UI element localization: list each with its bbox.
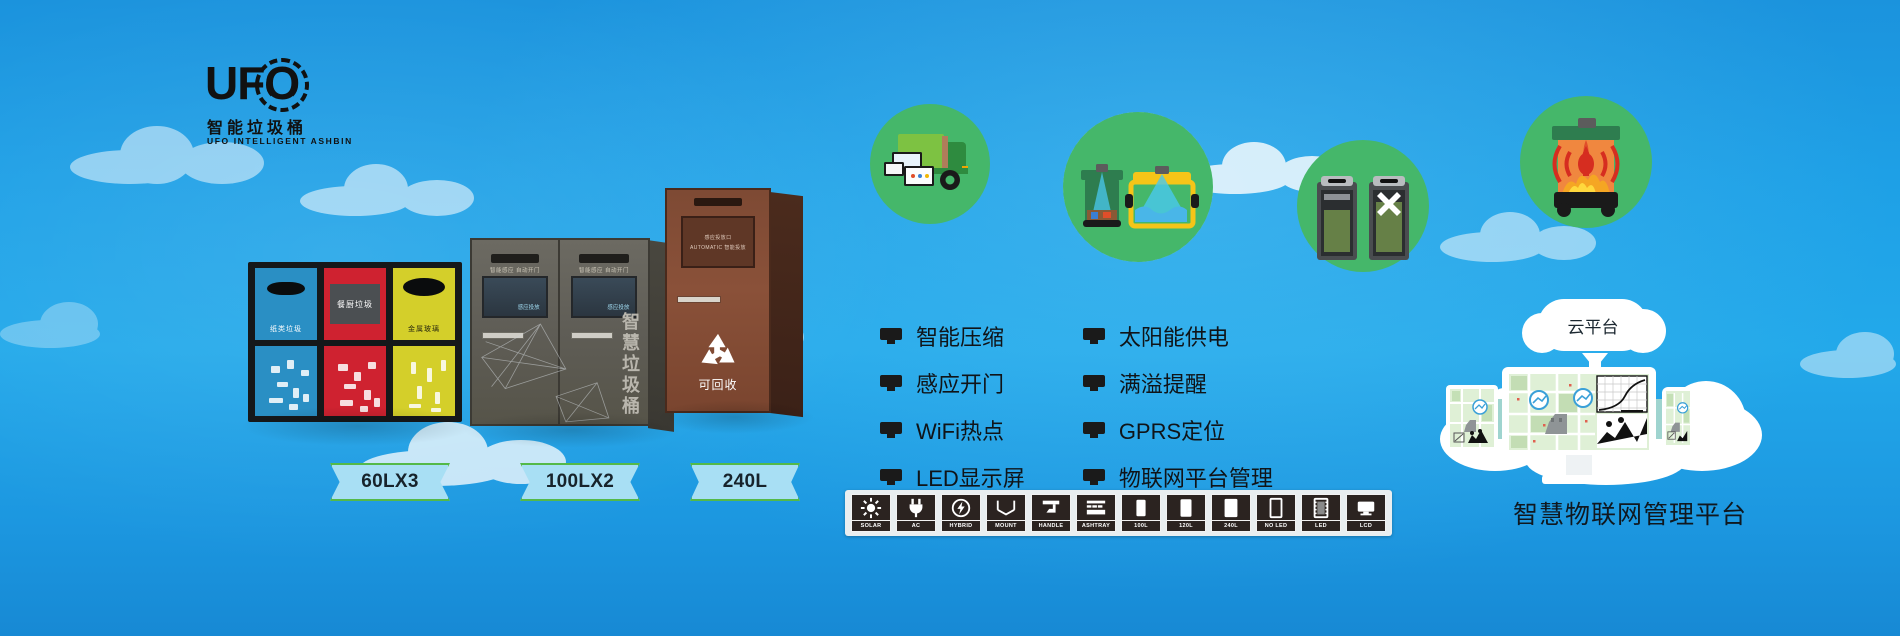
feature-item: 满溢提醒 (1083, 367, 1273, 399)
banner-canvas: UFO 智能垃圾桶 UFO INTELLIGENT ASHBIN 纸类垃圾 (0, 0, 1900, 636)
grey-double-smart-bin: 智能感应 自动开门 感应投放 智能感应 自动开门 感应投放 智慧垃圾桶 (470, 238, 650, 426)
feature-item: 智能压缩 (880, 320, 1025, 352)
platform-title: 智慧物联网管理平台 (1430, 495, 1830, 531)
bin-side-panel (769, 192, 803, 417)
display-line-2: AUTOMATIC 智能投放 (690, 244, 746, 251)
capacity-tag-60lx3: 60LX3 (330, 463, 450, 501)
feature-item: GPRS定位 (1083, 414, 1273, 446)
led-bar (694, 198, 743, 206)
feature-label: 感应开门 (916, 367, 1004, 399)
spec-label: LCD (1346, 521, 1386, 532)
fire-alarm-circle (1520, 96, 1652, 228)
monitor-icon (1083, 469, 1105, 485)
litter-graphic (332, 354, 378, 408)
feature-label: 满溢提醒 (1119, 367, 1207, 399)
lcd-icon (1346, 494, 1386, 521)
mount-icon (986, 494, 1026, 521)
spec-icon-strip: SOLAR AC HYBRID MOUNT (845, 490, 1392, 536)
compaction-circle (1297, 140, 1429, 272)
spec-handle: HANDLE (1031, 494, 1071, 532)
capacity-tag-100lx2: 100LX2 (520, 463, 640, 501)
fleet-monitoring-circle (870, 104, 990, 224)
monitor-icon (880, 328, 902, 344)
litter-graphic (401, 354, 447, 408)
feature-item: LED显示屏 (880, 461, 1025, 493)
spec-label: HANDLE (1031, 521, 1071, 532)
spec-label: MOUNT (986, 521, 1026, 532)
feature-item: WiFi热点 (880, 414, 1025, 446)
feature-column-right: 太阳能供电 满溢提醒 GPRS定位 物联网平台管理 (1083, 320, 1273, 493)
monitor-icon (880, 422, 902, 438)
feature-list: 智能压缩 感应开门 WiFi热点 LED显示屏 太阳能供电 满溢提醒 (880, 320, 1273, 493)
cloud-decoration (0, 300, 160, 350)
bin-shadow (462, 412, 682, 448)
bin-label: 可回收 (667, 376, 769, 393)
drop-slot (267, 282, 305, 295)
fill-level-sensor-circle (1063, 112, 1213, 262)
brand-logo: UFO 智能垃圾桶 UFO INTELLIGENT ASHBIN (205, 58, 325, 156)
spec-led: LED (1301, 494, 1341, 532)
section-top-panel: 纸类垃圾 (255, 268, 317, 340)
section-label: 金属玻璃 (393, 324, 455, 334)
section-top-panel: 金属玻璃 (393, 268, 455, 340)
bin-section-kitchen: 餐厨垃圾 (324, 268, 386, 416)
feature-label: GPRS定位 (1119, 414, 1225, 446)
map-dashboard-graphic (1666, 391, 1690, 445)
smartphone-device (1662, 387, 1694, 449)
spec-label: 240L (1211, 521, 1251, 532)
ashtray-icon (1076, 494, 1116, 521)
phone-screen (1666, 391, 1690, 445)
handle-icon (1031, 494, 1071, 521)
geometric-pattern (472, 240, 648, 424)
three-section-sorting-bin: 纸类垃圾 餐厨垃圾 (248, 262, 462, 422)
feature-item: 物联网平台管理 (1083, 461, 1273, 493)
brown-recycle-bin: 感应投放口 AUTOMATIC 智能投放 可回收 (665, 188, 771, 413)
spec-ashtray: ASHTRAY (1076, 494, 1116, 532)
monitor-icon (880, 469, 902, 485)
feature-item: 感应开门 (880, 367, 1025, 399)
feature-label: 物联网平台管理 (1119, 461, 1273, 493)
bin-120l-icon (1166, 494, 1206, 521)
spec-mount: MOUNT (986, 494, 1026, 532)
led-icon (1301, 494, 1341, 521)
ufo-ring-icon (255, 58, 309, 112)
feature-item: 太阳能供电 (1083, 320, 1273, 352)
feature-label: 智能压缩 (916, 320, 1004, 352)
spec-label: SOLAR (851, 521, 891, 532)
monitor-screen (1509, 374, 1649, 450)
spec-100l: 100L (1121, 494, 1161, 532)
spec-120l: 120L (1166, 494, 1206, 532)
hybrid-icon (941, 494, 981, 521)
bin-sensor-icon (1063, 112, 1213, 262)
spec-label: NO LED (1256, 521, 1296, 532)
bin-body: 感应投放口 AUTOMATIC 智能投放 可回收 (665, 188, 771, 413)
spec-label: 120L (1166, 521, 1206, 532)
spec-hybrid: HYBRID (941, 494, 981, 532)
capacity-tag-240l: 240L (690, 463, 800, 501)
map-dashboard-graphic (1509, 374, 1649, 450)
section-display: 餐厨垃圾 (330, 284, 380, 324)
tablet-screen (1450, 389, 1494, 447)
monitor-icon (1083, 375, 1105, 391)
garbage-truck-icon (870, 104, 990, 224)
section-label: 纸类垃圾 (255, 324, 317, 334)
monitor-icon (880, 375, 902, 391)
spec-label: 100L (1121, 521, 1161, 532)
feature-label: LED显示屏 (916, 461, 1025, 493)
sensor-window: 感应投放口 AUTOMATIC 智能投放 (681, 216, 754, 268)
tablet-device (1446, 385, 1498, 451)
plug-icon (896, 494, 936, 521)
monitor-icon (1083, 422, 1105, 438)
spec-label: LED (1301, 521, 1341, 532)
display-line-1: 感应投放口 (704, 234, 731, 241)
spec-no-led: NO LED (1256, 494, 1296, 532)
feature-column-left: 智能压缩 感应开门 WiFi热点 LED显示屏 (880, 320, 1025, 493)
recycle-icon (695, 332, 741, 374)
drop-slot (403, 278, 445, 296)
litter-graphic (263, 354, 309, 408)
cloud-platform-label: 云平台 (1538, 299, 1648, 351)
spec-label: ASHTRAY (1076, 521, 1116, 532)
fire-alarm-bin-icon (1520, 96, 1652, 228)
spec-240l: 240L (1211, 494, 1251, 532)
desktop-monitor (1504, 369, 1654, 455)
feature-label: WiFi热点 (916, 414, 1004, 446)
spec-label: HYBRID (941, 521, 981, 532)
map-dashboard-graphic (1450, 389, 1494, 447)
spec-ac: AC (896, 494, 936, 532)
bin-handle (677, 296, 721, 303)
bin-body: 智能感应 自动开门 感应投放 智能感应 自动开门 感应投放 智慧垃圾桶 (470, 238, 650, 426)
spec-label: AC (896, 521, 936, 532)
bin-shadow (240, 406, 476, 446)
bin-shadow (655, 400, 815, 434)
no-led-icon (1256, 494, 1296, 521)
bin-100l-icon (1121, 494, 1161, 521)
spec-solar: SOLAR (851, 494, 891, 532)
logo-english-name: UFO INTELLIGENT ASHBIN (207, 136, 353, 146)
logo-chinese-name: 智能垃圾桶 (207, 114, 307, 138)
sun-icon (851, 494, 891, 521)
bin-240l-icon (1211, 494, 1251, 521)
bin-section-metal-glass: 金属玻璃 (393, 268, 455, 416)
bin-section-paper: 纸类垃圾 (255, 268, 317, 416)
compaction-bin-icon (1297, 140, 1429, 272)
monitor-stand (1566, 455, 1592, 477)
section-top-panel: 餐厨垃圾 (324, 268, 386, 340)
download-arrow-icon (1582, 353, 1608, 369)
feature-label: 太阳能供电 (1119, 320, 1229, 352)
iot-platform-illustration: 云平台 (1430, 295, 1830, 545)
monitor-base (1542, 475, 1616, 484)
monitor-icon (1083, 328, 1105, 344)
cloud-decoration (300, 160, 480, 220)
spec-lcd: LCD (1346, 494, 1386, 532)
